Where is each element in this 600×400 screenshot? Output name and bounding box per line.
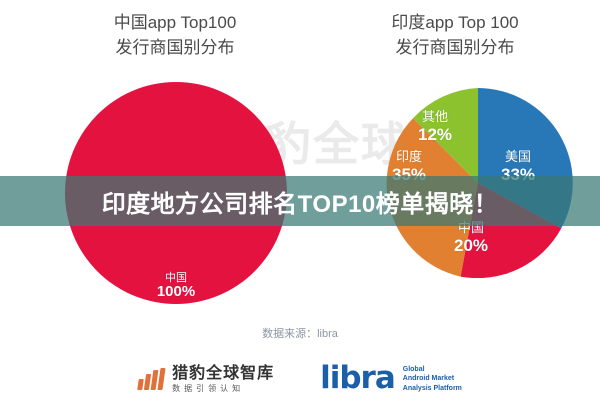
- chart-title-china: 中国app Top100 发行商国别分布: [60, 10, 290, 60]
- cheetah-logo: 猎豹全球智库 数据引领认知: [138, 365, 274, 393]
- headline-banner: 印度地方公司排名TOP10榜单揭晓！: [0, 176, 600, 226]
- data-source-label: 数据来源：libra: [0, 325, 600, 341]
- libra-tagline-line1: Global: [403, 365, 462, 374]
- chart-title-china-line1: 中国app Top100: [60, 10, 290, 35]
- poster-canvas: 猎豹全球智库 中国app Top100 发行商国别分布 中国 100% 印度ap…: [0, 0, 600, 400]
- cheetah-logo-text: 猎豹全球智库 数据引领认知: [172, 365, 274, 393]
- libra-logo-name: libra: [320, 365, 395, 393]
- libra-tagline-line2: Android Market: [403, 374, 462, 383]
- headline-text: 印度地方公司排名TOP10榜单揭晓！: [102, 184, 499, 219]
- chart-title-china-line2: 发行商国别分布: [60, 35, 290, 60]
- cheetah-bar-chart-icon: [138, 368, 164, 390]
- libra-logo: libra Global Android Market Analysis Pla…: [320, 365, 462, 393]
- footer-logos: 猎豹全球智库 数据引领认知 libra Global Android Marke…: [0, 358, 600, 400]
- libra-logo-tagline: Global Android Market Analysis Platform: [403, 365, 462, 393]
- libra-tagline-line3: Analysis Platform: [403, 384, 462, 393]
- chart-title-india-line2: 发行商国别分布: [340, 35, 570, 60]
- chart-title-india: 印度app Top 100 发行商国别分布: [340, 10, 570, 60]
- cheetah-logo-name: 猎豹全球智库: [172, 365, 274, 383]
- cheetah-logo-tagline: 数据引领认知: [172, 384, 274, 393]
- chart-title-india-line1: 印度app Top 100: [340, 10, 570, 35]
